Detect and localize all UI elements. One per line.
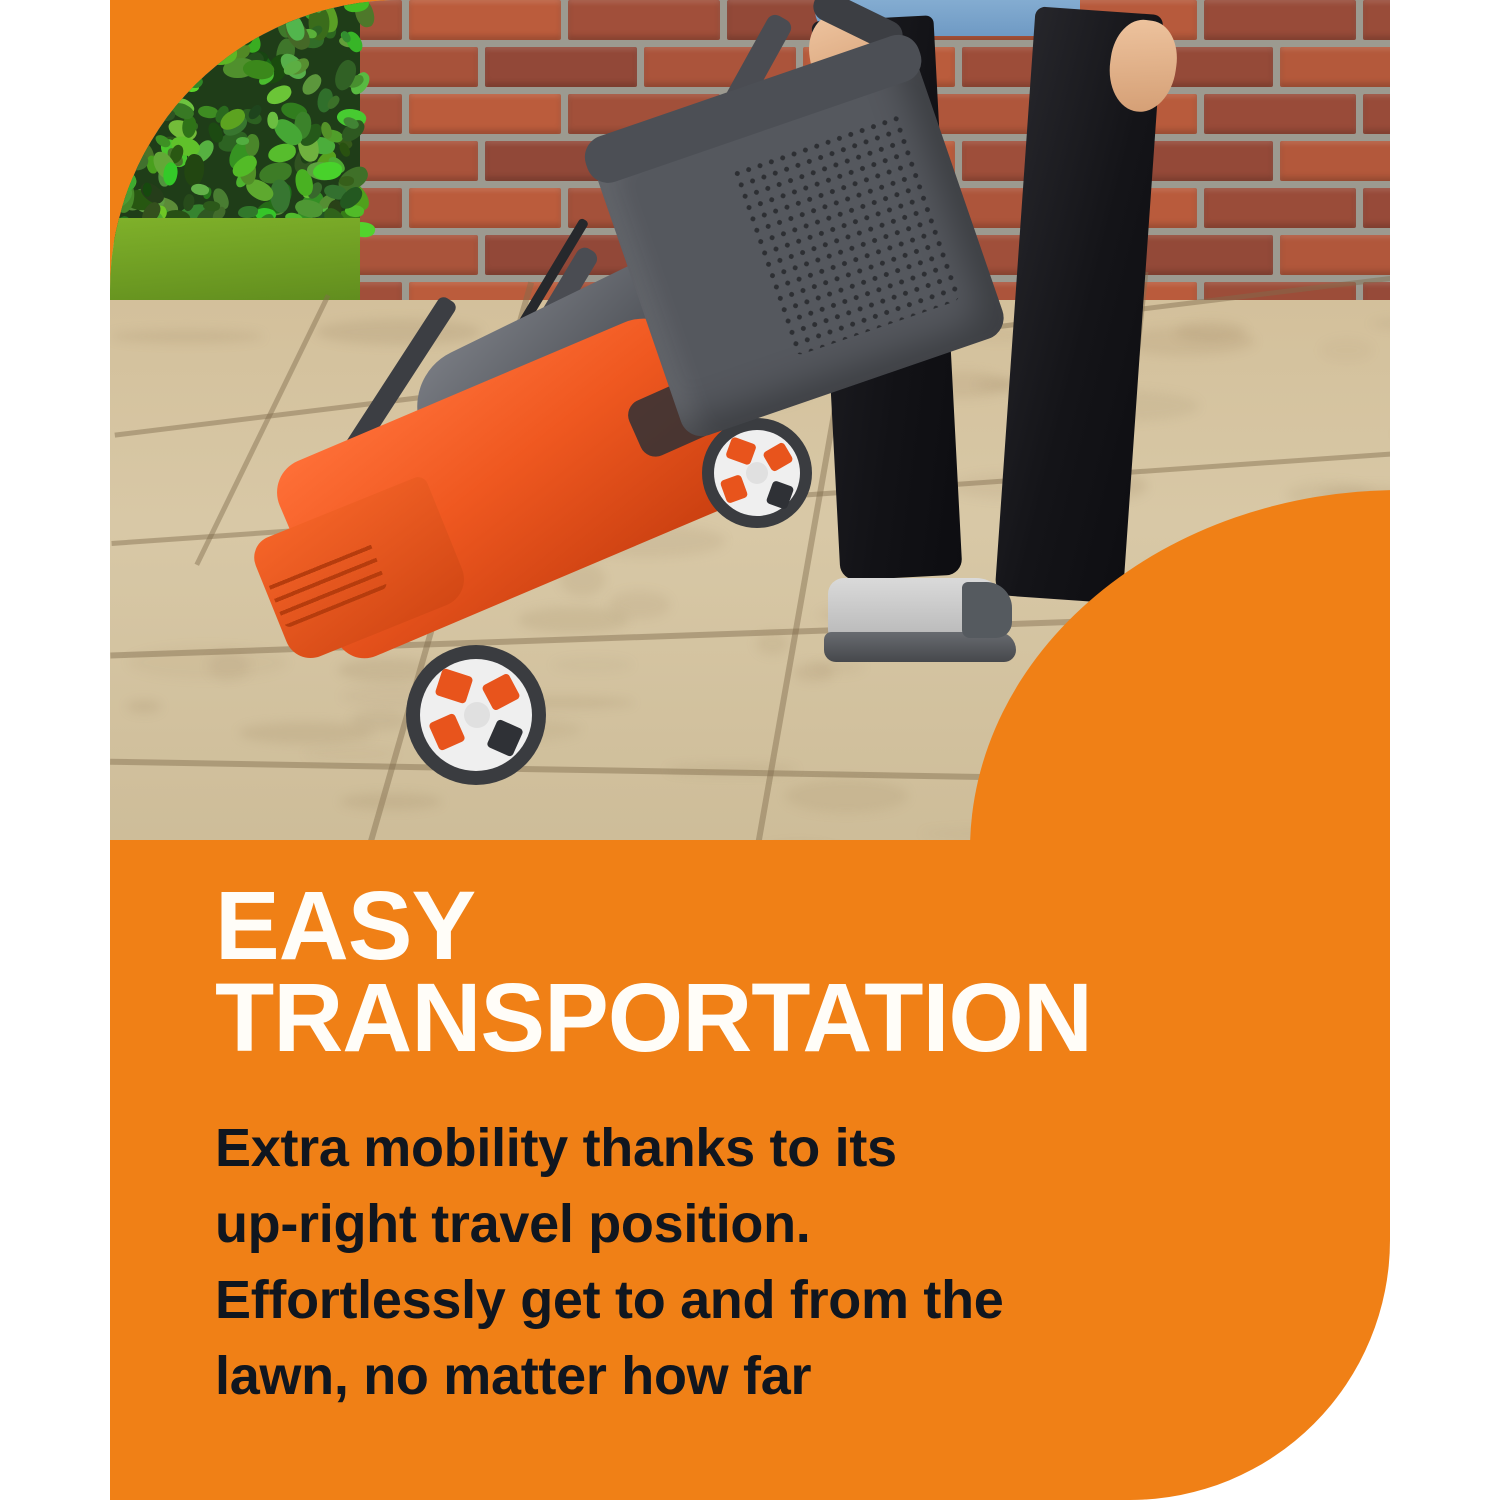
body-line: lawn, no matter how far: [215, 1338, 1275, 1414]
headline-line-2: TRANSPORTATION: [215, 972, 1275, 1064]
feature-card: EASY TRANSPORTATION Extra mobility thank…: [110, 0, 1390, 1500]
body-line: Effortlessly get to and from the: [215, 1262, 1275, 1338]
hedge: [110, 0, 360, 240]
body-line: Extra mobility thanks to its: [215, 1110, 1275, 1186]
body-line: up-right travel position.: [215, 1186, 1275, 1262]
body-text: Extra mobility thanks to its up-right tr…: [215, 1110, 1275, 1414]
product-photo: [110, 0, 1390, 840]
copy-block: EASY TRANSPORTATION Extra mobility thank…: [215, 880, 1275, 1414]
headline-line-1: EASY: [215, 880, 1275, 972]
